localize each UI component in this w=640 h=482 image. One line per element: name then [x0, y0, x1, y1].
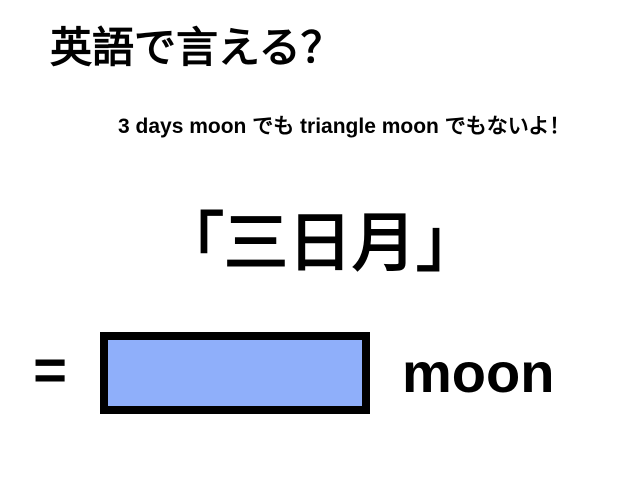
hint-text: 3 days moon でも triangle moon でもないよ！ — [118, 110, 570, 140]
equals-sign: = — [0, 342, 100, 404]
quiz-card: 英語で言える？ 3 days moon でも triangle moon でもな… — [0, 0, 640, 482]
answer-word: moon — [402, 345, 554, 401]
answer-row: = moon — [0, 330, 640, 416]
page-title: 英語で言える？ — [50, 24, 343, 72]
japanese-term: 「三日月」 — [0, 192, 640, 284]
answer-blank-box — [100, 332, 370, 414]
